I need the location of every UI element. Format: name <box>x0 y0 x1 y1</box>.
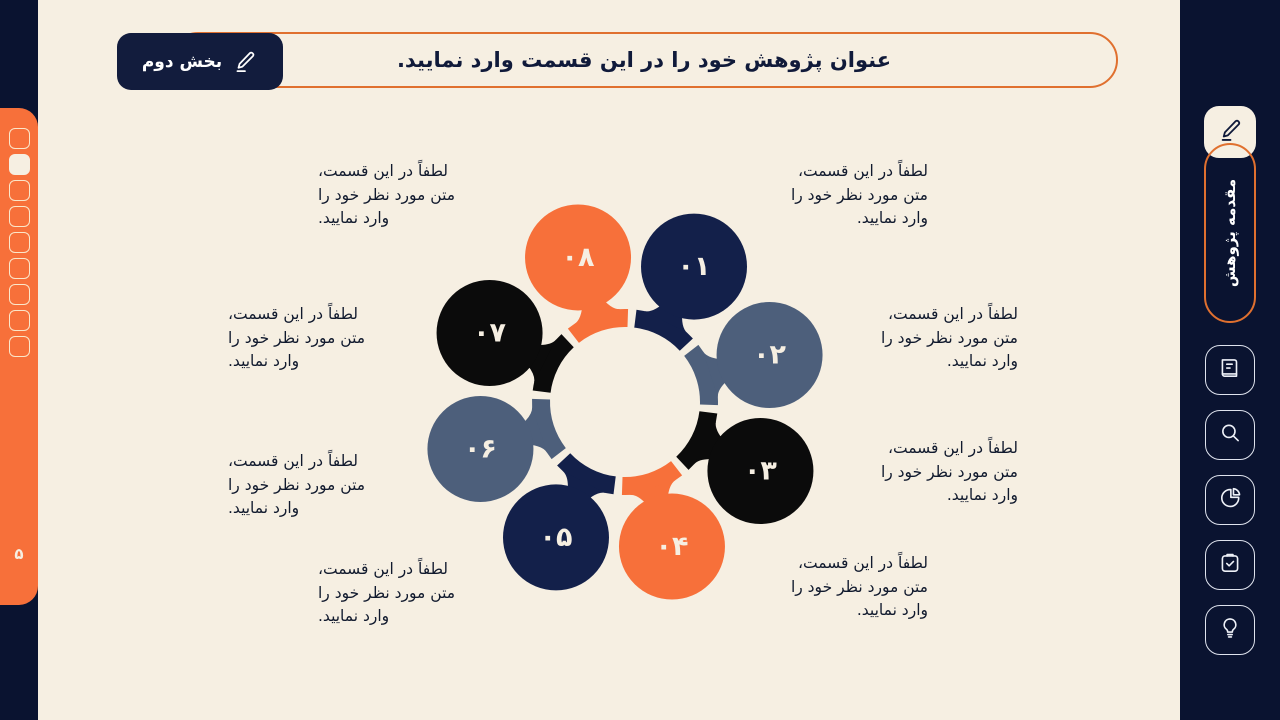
left-rail-indicator-3[interactable] <box>9 180 30 201</box>
cycle-number-۰۴: ۰۴ <box>655 531 688 562</box>
cycle-number-۰۷: ۰۷ <box>473 317 506 348</box>
slide-title-bar: عنوان پژوهش خود را در این قسمت وارد نمای… <box>170 32 1118 88</box>
callout-text-07: لطفاً در این قسمت، متن مورد نظر خود را و… <box>228 303 424 374</box>
callout-text-02: لطفاً در این قسمت، متن مورد نظر خود را و… <box>822 303 1018 374</box>
left-rail-indicator-6[interactable] <box>9 258 30 279</box>
callout-text-04: لطفاً در این قسمت، متن مورد نظر خود را و… <box>732 552 928 623</box>
cycle-number-۰۸: ۰۸ <box>562 242 595 273</box>
left-rail-indicator-9[interactable] <box>9 336 30 357</box>
left-rail-indicator-7[interactable] <box>9 284 30 305</box>
book-icon <box>1217 355 1243 385</box>
left-rail-indicator-2[interactable] <box>9 154 30 175</box>
rail-item-active-label: مقدمه پژوهش <box>1221 179 1239 287</box>
rail-item-idea[interactable] <box>1205 605 1255 655</box>
cycle-number-۰۶: ۰۶ <box>464 433 497 464</box>
rail-item-chart[interactable] <box>1205 475 1255 525</box>
search-icon <box>1217 420 1243 450</box>
slide-canvas: ۵ عنوان پژوهش خود را در این قسمت وارد نم… <box>0 0 1280 720</box>
pen-icon <box>232 49 258 75</box>
callout-text-01: لطفاً در این قسمت، متن مورد نظر خود را و… <box>732 160 928 231</box>
section-badge[interactable]: بخش دوم <box>117 33 283 90</box>
rail-item-active[interactable]: مقدمه پژوهش <box>1204 143 1256 323</box>
rail-item-search[interactable] <box>1205 410 1255 460</box>
cycle-number-۰۳: ۰۳ <box>744 456 777 487</box>
callout-text-06: لطفاً در این قسمت، متن مورد نظر خود را و… <box>228 450 424 521</box>
left-rail-indicator-1[interactable] <box>9 128 30 149</box>
callout-text-03: لطفاً در این قسمت، متن مورد نظر خود را و… <box>822 437 1018 508</box>
page-title: عنوان پژوهش خود را در این قسمت وارد نمای… <box>363 48 925 72</box>
rail-item-book[interactable] <box>1205 345 1255 395</box>
left-rail-indicator-list[interactable] <box>0 128 38 357</box>
left-rail-indicator-4[interactable] <box>9 206 30 227</box>
pie-chart-icon <box>1217 485 1243 515</box>
clipboard-check-icon <box>1217 550 1243 580</box>
cycle-number-۰۲: ۰۲ <box>753 340 786 371</box>
page-number: ۵ <box>0 545 38 563</box>
rail-item-clipboard[interactable] <box>1205 540 1255 590</box>
left-rail-indicator-5[interactable] <box>9 232 30 253</box>
callout-text-05: لطفاً در این قسمت، متن مورد نظر خود را و… <box>318 558 514 629</box>
section-badge-label: بخش دوم <box>142 52 222 72</box>
left-rail-indicator-8[interactable] <box>9 310 30 331</box>
cycle-number-۰۱: ۰۱ <box>678 251 711 282</box>
callout-text-08: لطفاً در این قسمت، متن مورد نظر خود را و… <box>318 160 514 231</box>
cycle-number-۰۵: ۰۵ <box>540 522 573 553</box>
lightbulb-icon <box>1217 615 1243 645</box>
